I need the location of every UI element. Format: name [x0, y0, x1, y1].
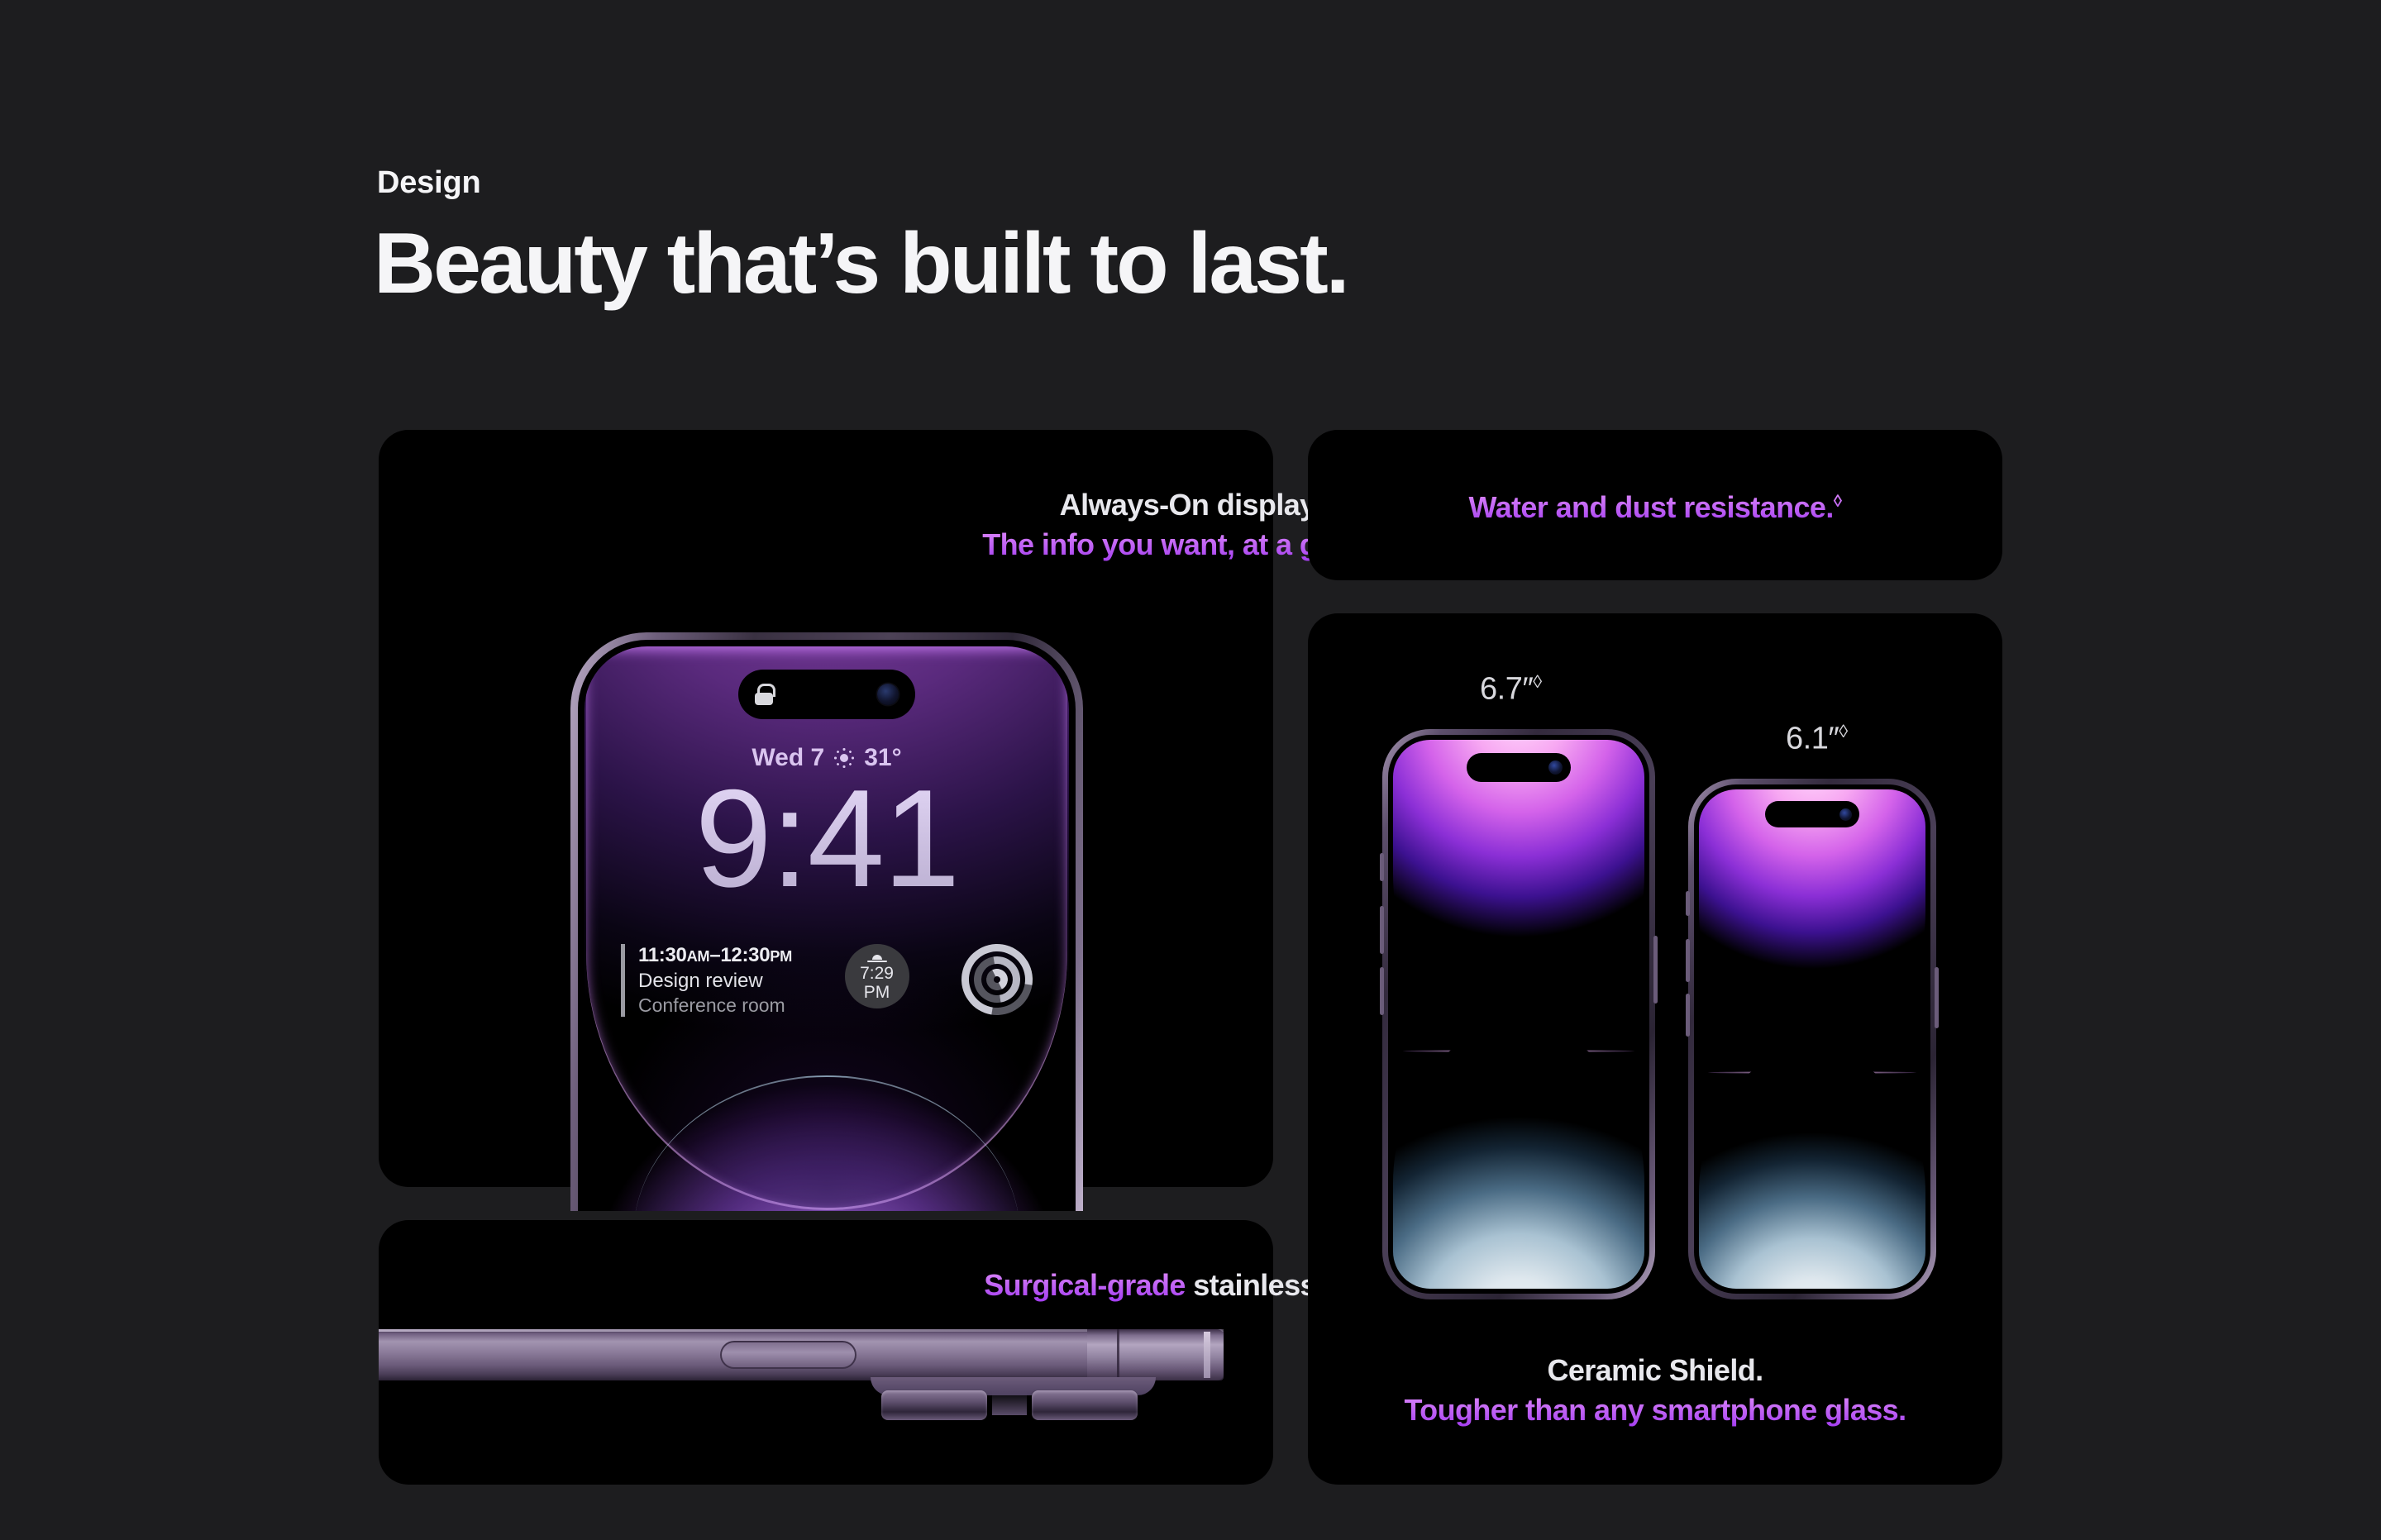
size-label-small: 6.1″◊ [1786, 721, 1848, 757]
lock-icon [755, 684, 773, 705]
size-large-value: 6.7 [1480, 672, 1522, 707]
sunset-icon [867, 951, 887, 963]
event-time-row: 11:30AM–12:30PM [638, 944, 792, 967]
dynamic-island-small [1765, 801, 1859, 827]
volume-button [720, 1341, 856, 1369]
size-large-unit: ″ [1522, 672, 1533, 707]
stainless-caption-accent: Surgical-grade [984, 1268, 1186, 1302]
volume-up-button [1686, 939, 1690, 982]
section-eyebrow: Design [377, 165, 481, 201]
phone-small-wallpaper [1699, 789, 1925, 1289]
event-start-time: 11:30 [638, 944, 687, 966]
wallpaper-arch-top [1699, 789, 1925, 1079]
mute-switch [1686, 891, 1690, 916]
water-footnote-marker: ◊ [1834, 492, 1842, 511]
sunset-widget[interactable]: 7:29 PM [845, 944, 909, 1008]
always-on-caption-line2: The info you want, at a glance. [0, 527, 2381, 562]
camera-lens-1 [881, 1390, 987, 1420]
lockscreen-widgets: 11:30AM–12:30PM Design review Conference… [621, 944, 1033, 1017]
water-resistance-text: Water and dust resistance. [1469, 490, 1834, 524]
event-end-time: –12:30 [709, 944, 770, 966]
wallpaper-arch-top [1393, 740, 1644, 1058]
volume-down-button [1686, 994, 1690, 1037]
lockscreen-clock: 9:41 [585, 769, 1069, 908]
size-small-value: 6.1 [1786, 722, 1828, 756]
phone-large-wallpaper [1393, 740, 1644, 1289]
ceramic-shield-caption-line1: Ceramic Shield. [1308, 1353, 2002, 1388]
wallpaper-arch-bottom [1393, 1025, 1644, 1289]
volume-up-button [1380, 906, 1384, 954]
design-section: Design Beauty that’s built to last. Alwa… [0, 0, 2381, 1540]
event-title: Design review [638, 970, 792, 993]
event-start-period: AM [687, 947, 710, 965]
always-on-caption-line1: Always-On display. [0, 488, 2381, 522]
phone-screen: Wed 7 31° 9:41 11:30AM–12:30PM Design re… [585, 646, 1069, 1211]
event-location: Conference room [638, 994, 792, 1017]
phone-small-screen [1699, 789, 1925, 1289]
activity-rings-icon[interactable] [961, 944, 1033, 1015]
side-button [1935, 967, 1939, 1028]
dynamic-island [738, 670, 915, 719]
phone-large-screen [1393, 740, 1644, 1289]
stainless-steel-side-profile [379, 1329, 1273, 1428]
front-camera-icon [1839, 808, 1852, 821]
page-title: Beauty that’s built to last. [374, 219, 1348, 309]
sunset-period: PM [864, 984, 890, 1002]
sunset-time: 7:29 [860, 965, 894, 983]
wallpaper-arch-bottom [1699, 1049, 1925, 1289]
front-camera-icon [877, 684, 899, 705]
ceramic-shield-caption-line2: Tougher than any smartphone glass. [1308, 1393, 2002, 1428]
volume-down-button [1380, 967, 1384, 1015]
always-on-phone-mockup: Wed 7 31° 9:41 11:30AM–12:30PM Design re… [570, 632, 1083, 1211]
phone-mockup-large [1382, 729, 1655, 1299]
calendar-event-widget[interactable]: 11:30AM–12:30PM Design review Conference… [621, 944, 792, 1017]
side-button [1653, 936, 1658, 1004]
size-small-unit: ″ [1828, 722, 1839, 756]
stainless-caption: Surgical-grade stainless steel. [0, 1268, 2381, 1303]
size-large-footnote: ◊ [1533, 671, 1541, 692]
camera-lens-gap [992, 1390, 1027, 1415]
mute-switch [1380, 853, 1384, 881]
camera-lens-2 [1032, 1390, 1138, 1420]
phone-mockup-small [1688, 779, 1936, 1299]
size-small-footnote: ◊ [1839, 721, 1847, 741]
steel-corner-block [1087, 1329, 1224, 1380]
event-end-period: PM [770, 947, 792, 965]
front-camera-icon [1548, 760, 1563, 775]
dynamic-island-large [1467, 753, 1571, 782]
size-label-large: 6.7″◊ [1480, 671, 1542, 708]
water-resistance-caption: Water and dust resistance.◊ [1308, 490, 2002, 525]
